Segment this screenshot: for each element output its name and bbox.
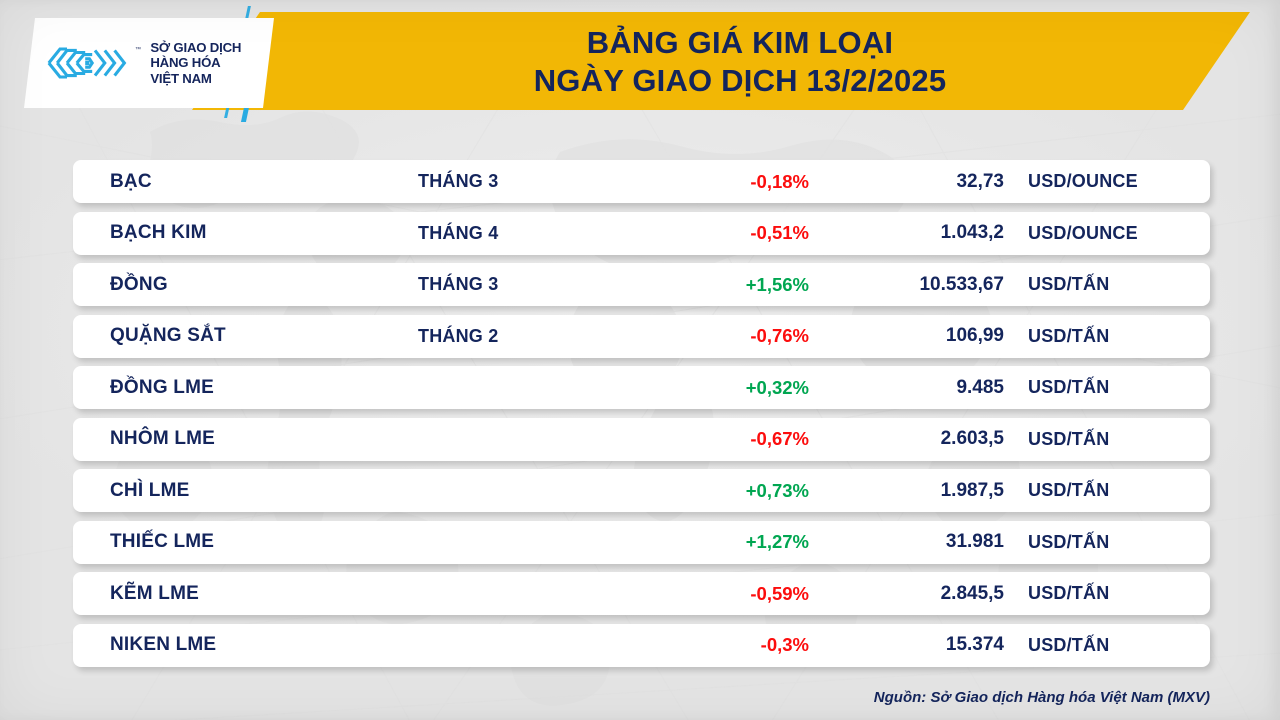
- price-unit: USD/TẤN: [1028, 326, 1109, 347]
- commodity-name: NIKEN LME: [110, 634, 216, 656]
- page-background: ™ SỞ GIAO DỊCH HÀNG HÓA VIỆT NAM BẢNG GI…: [0, 0, 1280, 720]
- logo-line-1: SỞ GIAO DỊCH: [150, 40, 241, 56]
- price-change: -0,76%: [633, 325, 809, 347]
- logo-line-3: VIỆT NAM: [150, 71, 241, 87]
- commodity-name: ĐỒNG: [110, 274, 168, 296]
- contract-month: THÁNG 3: [418, 274, 498, 295]
- price-value: 1.987,5: [833, 480, 1004, 502]
- logo-card: ™ SỞ GIAO DỊCH HÀNG HÓA VIỆT NAM: [24, 18, 274, 108]
- price-unit: USD/TẤN: [1028, 583, 1109, 604]
- table-row[interactable]: KẼM LME-0,59%2.845,5USD/TẤN: [73, 572, 1210, 615]
- commodity-name: NHÔM LME: [110, 428, 215, 450]
- price-change: +0,32%: [633, 377, 809, 399]
- commodity-name: CHÌ LME: [110, 480, 190, 502]
- price-change: -0,59%: [633, 583, 809, 605]
- source-note: Nguồn: Sở Giao dịch Hàng hóa Việt Nam (M…: [874, 689, 1210, 706]
- commodity-name: KẼM LME: [110, 583, 199, 605]
- price-change: +0,73%: [633, 480, 809, 502]
- price-value: 9.485: [833, 377, 1004, 399]
- table-row[interactable]: QUẶNG SẮTTHÁNG 2-0,76%106,99USD/TẤN: [73, 315, 1210, 358]
- price-value: 31.981: [833, 531, 1004, 553]
- commodity-name: BẠC: [110, 171, 152, 193]
- price-value: 2.845,5: [833, 583, 1004, 605]
- price-change: -0,3%: [633, 634, 809, 656]
- table-row[interactable]: CHÌ LME+0,73%1.987,5USD/TẤN: [73, 469, 1210, 512]
- contract-month: THÁNG 4: [418, 223, 498, 244]
- table-row[interactable]: BẠCTHÁNG 3-0,18%32,73USD/OUNCE: [73, 160, 1210, 203]
- table-row[interactable]: BẠCH KIMTHÁNG 4-0,51%1.043,2USD/OUNCE: [73, 212, 1210, 255]
- trademark-symbol: ™: [135, 47, 141, 53]
- commodity-name: THIẾC LME: [110, 531, 214, 553]
- price-change: +1,27%: [633, 531, 809, 553]
- price-change: +1,56%: [633, 274, 809, 296]
- price-change: -0,18%: [633, 171, 809, 193]
- price-value: 2.603,5: [833, 428, 1004, 450]
- page-title: BẢNG GIÁ KIM LOẠI NGÀY GIAO DỊCH 13/2/20…: [300, 16, 1180, 108]
- contract-month: THÁNG 3: [418, 171, 498, 192]
- title-primary: BẢNG GIÁ KIM LOẠI: [587, 24, 894, 62]
- price-table: BẠCTHÁNG 3-0,18%32,73USD/OUNCEBẠCH KIMTH…: [73, 160, 1210, 675]
- price-unit: USD/TẤN: [1028, 635, 1109, 656]
- price-unit: USD/OUNCE: [1028, 223, 1138, 244]
- table-row[interactable]: NIKEN LME-0,3%15.374USD/TẤN: [73, 624, 1210, 667]
- page-header: ™ SỞ GIAO DỊCH HÀNG HÓA VIỆT NAM BẢNG GI…: [0, 0, 1280, 122]
- price-value: 106,99: [833, 325, 1004, 347]
- price-unit: USD/TẤN: [1028, 532, 1109, 553]
- price-change: -0,51%: [633, 222, 809, 244]
- price-change: -0,67%: [633, 428, 809, 450]
- table-row[interactable]: NHÔM LME-0,67%2.603,5USD/TẤN: [73, 418, 1210, 461]
- logo-line-2: HÀNG HÓA: [150, 55, 241, 71]
- price-unit: USD/OUNCE: [1028, 171, 1138, 192]
- price-unit: USD/TẤN: [1028, 429, 1109, 450]
- price-unit: USD/TẤN: [1028, 274, 1109, 295]
- logo-wordmark: SỞ GIAO DỊCH HÀNG HÓA VIỆT NAM: [150, 40, 241, 87]
- table-row[interactable]: ĐỒNGTHÁNG 3+1,56%10.533,67USD/TẤN: [73, 263, 1210, 306]
- table-row[interactable]: THIẾC LME+1,27%31.981USD/TẤN: [73, 521, 1210, 564]
- commodity-name: BẠCH KIM: [110, 222, 207, 244]
- table-row[interactable]: ĐỒNG LME+0,32%9.485USD/TẤN: [73, 366, 1210, 409]
- price-value: 32,73: [833, 171, 1004, 193]
- price-value: 1.043,2: [833, 222, 1004, 244]
- mxv-chevron-logo-icon: [46, 40, 130, 86]
- price-unit: USD/TẤN: [1028, 480, 1109, 501]
- contract-month: THÁNG 2: [418, 326, 498, 347]
- price-unit: USD/TẤN: [1028, 377, 1109, 398]
- commodity-name: QUẶNG SẮT: [110, 325, 226, 347]
- commodity-name: ĐỒNG LME: [110, 377, 214, 399]
- price-value: 10.533,67: [833, 274, 1004, 296]
- title-secondary: NGÀY GIAO DỊCH 13/2/2025: [534, 62, 947, 100]
- price-value: 15.374: [833, 634, 1004, 656]
